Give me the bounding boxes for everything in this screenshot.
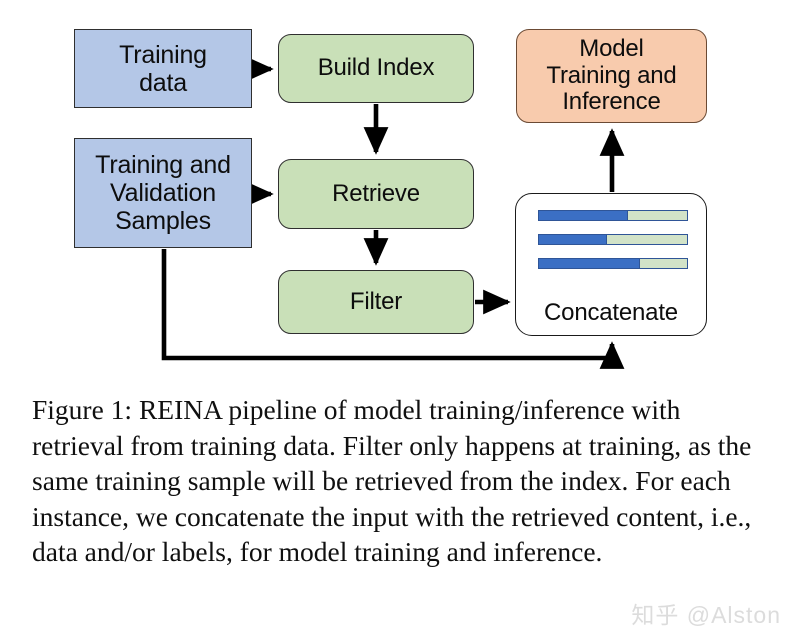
node-training-data-label: Training data	[119, 41, 207, 97]
node-training-data[interactable]: Training data	[74, 29, 252, 108]
figure-caption: Figure 1: REINA pipeline of model traini…	[32, 392, 754, 570]
node-retrieve[interactable]: Retrieve	[278, 159, 474, 229]
watermark: 知乎 @Alston	[631, 596, 781, 630]
concatenate-bar-input-segment	[539, 211, 628, 220]
concatenate-bar-retrieved-segment	[639, 259, 687, 268]
figure-diagram: Training data Build Index Model Training…	[0, 0, 795, 378]
concatenate-bar-input-segment	[539, 235, 607, 244]
node-filter-label: Filter	[350, 289, 402, 316]
node-model-training-label: Model Training and Inference	[546, 36, 676, 117]
node-retrieve-label: Retrieve	[332, 181, 420, 208]
node-concatenate[interactable]: Concatenate	[515, 193, 707, 336]
concatenate-bar-group	[538, 210, 688, 282]
concatenate-bar-retrieved-segment	[606, 235, 687, 244]
concatenate-bar	[538, 234, 688, 245]
concatenate-bar-input-segment	[539, 259, 640, 268]
concatenate-bar	[538, 258, 688, 269]
node-samples-label: Training and Validation Samples	[95, 151, 231, 235]
concatenate-bar-retrieved-segment	[627, 211, 687, 220]
node-build-index-label: Build Index	[318, 55, 435, 82]
node-filter[interactable]: Filter	[278, 270, 474, 334]
node-training-and-validation-samples[interactable]: Training and Validation Samples	[74, 138, 252, 248]
node-concatenate-label: Concatenate	[516, 300, 706, 327]
concatenate-bar	[538, 210, 688, 221]
node-build-index[interactable]: Build Index	[278, 34, 474, 103]
node-model-training-and-inference[interactable]: Model Training and Inference	[516, 29, 707, 123]
